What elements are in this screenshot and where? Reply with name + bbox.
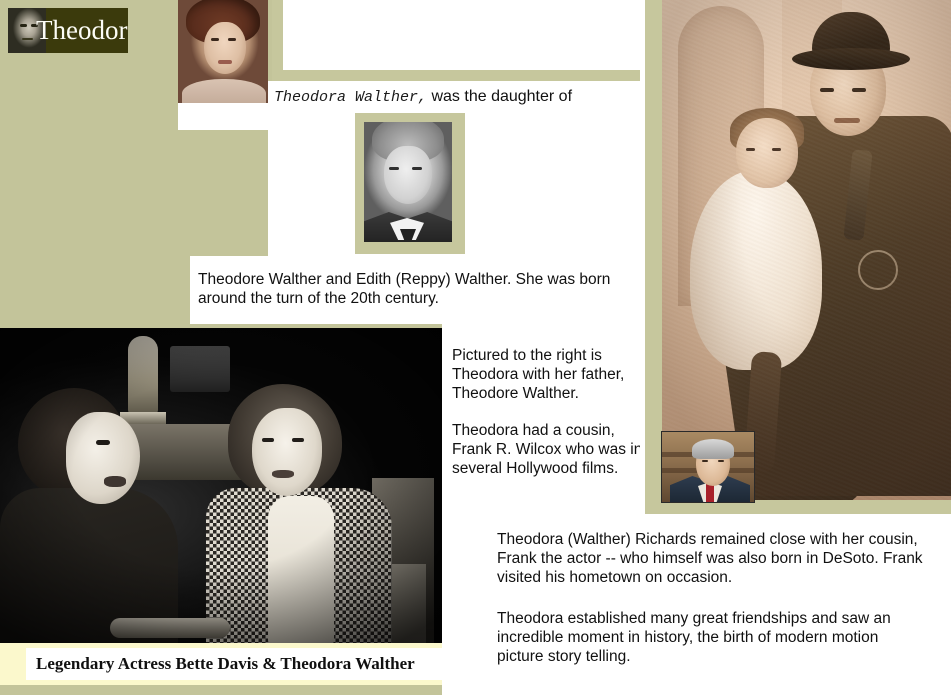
intro-line: Theodora Walther, was the daughter of [274, 88, 572, 106]
intro-name: Theodora Walther, [274, 89, 427, 106]
middle-column-paragraph-1: Pictured to the right is Theodora with h… [452, 346, 648, 403]
parents-paragraph: Theodore Walther and Edith (Reppy) Walth… [198, 270, 650, 308]
intro-panel-filler [178, 103, 272, 130]
site-logo[interactable]: Theodore [8, 8, 128, 53]
photo-theodore-walther-young [364, 122, 452, 242]
intro-rest: was the daughter of [427, 88, 572, 105]
photo-theodora-with-father [662, 0, 951, 500]
lower-column-paragraph-1: Theodora (Walther) Richards remained clo… [497, 530, 929, 587]
caption-inner: Legendary Actress Bette Davis & Theodora… [26, 648, 442, 680]
photo-bette-davis-and-theodora [0, 328, 442, 646]
page-root: Theodore Theodora Walther, was the daugh… [0, 0, 951, 695]
middle-column-paragraph-2: Theodora had a cousin, Frank R. Wilcox w… [452, 421, 648, 478]
top-decorative-inner [283, 0, 652, 70]
site-logo-label: Theodore [36, 15, 128, 46]
lower-column-paragraph-2: Theodora established many great friendsh… [497, 609, 929, 666]
photo-caption: Legendary Actress Bette Davis & Theodora… [26, 654, 415, 674]
photo-theodora-walther-portrait [178, 0, 268, 103]
photo-frank-r-wilcox [661, 431, 755, 503]
